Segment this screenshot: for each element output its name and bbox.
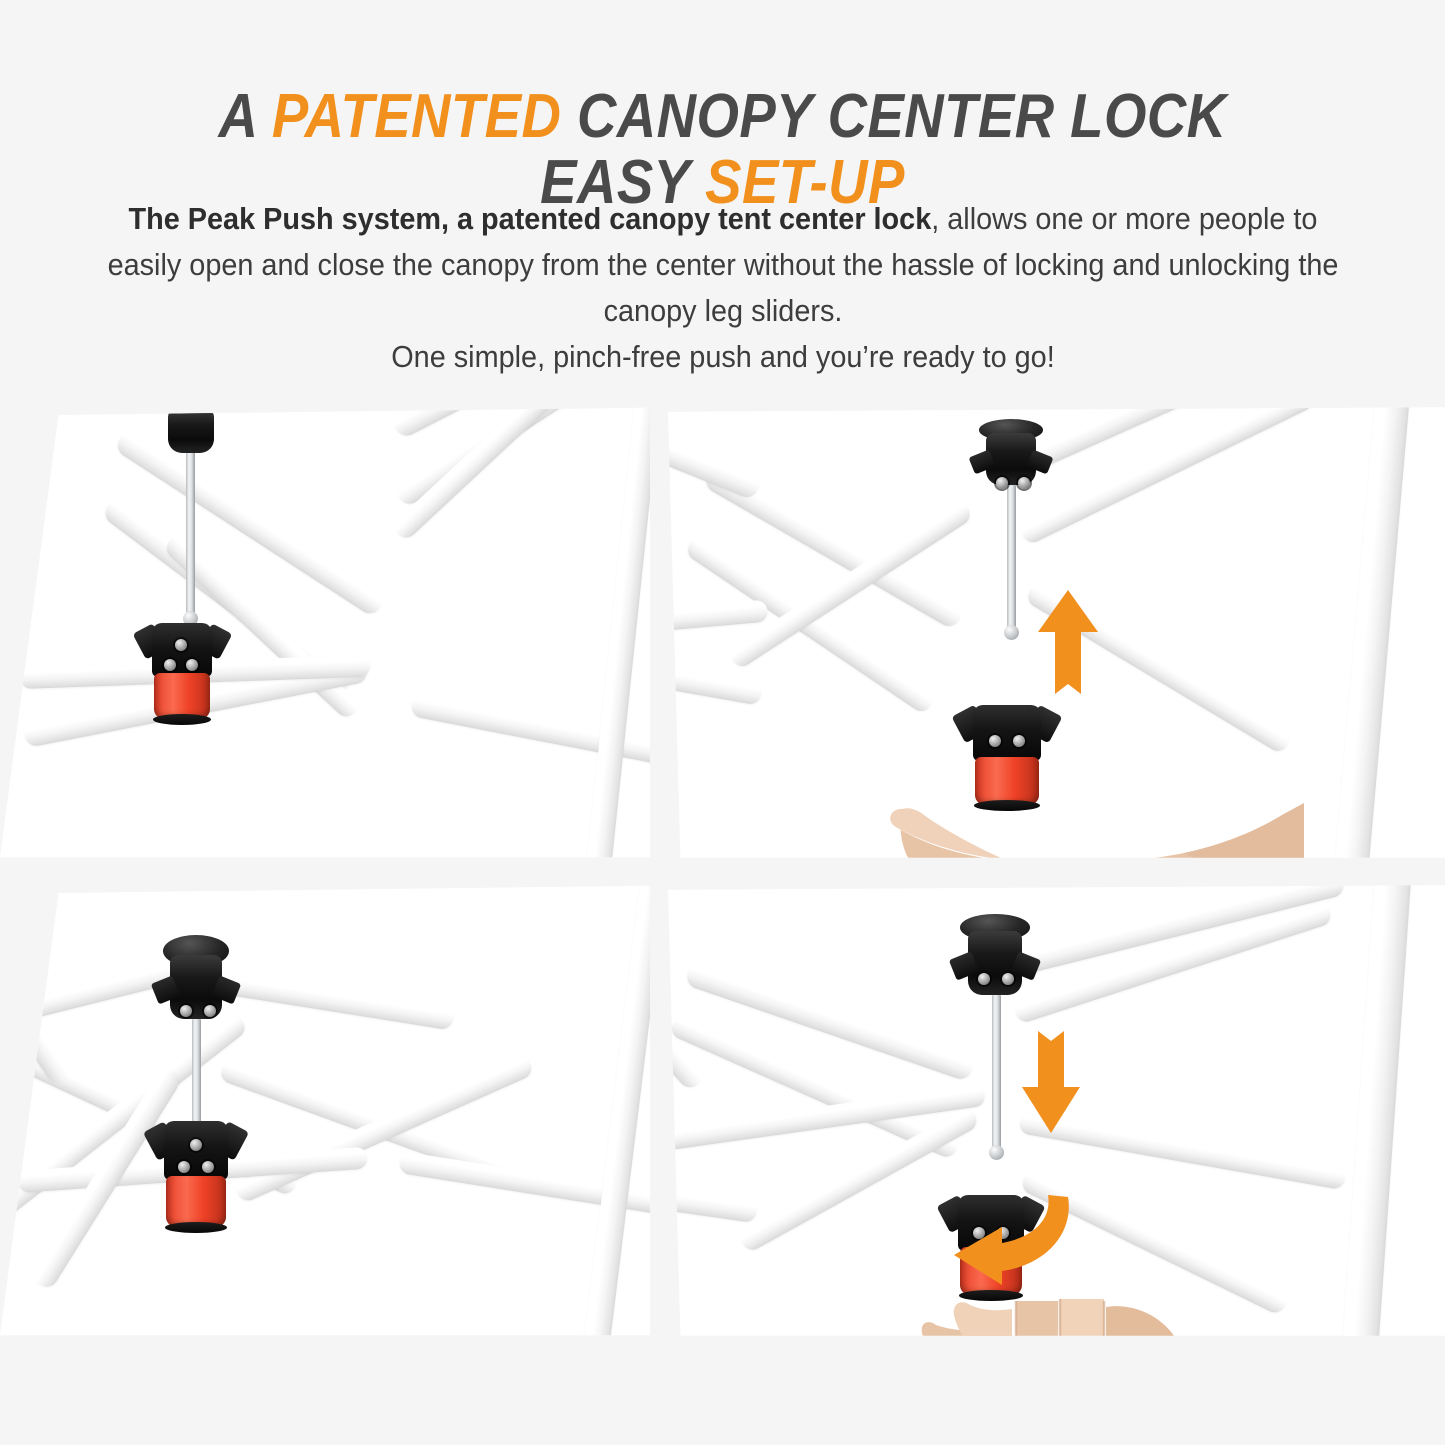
headline-highlight-patented: PATENTED (272, 82, 561, 151)
headline-line-1: A PATENTED CANOPY CENTER LOCK (87, 84, 1359, 150)
panel-pull-down (668, 883, 1445, 1338)
panel-frame-open (0, 405, 650, 860)
image-row-top (0, 405, 1445, 860)
arrow-down-icon (1020, 1021, 1082, 1133)
image-row-bottom (0, 883, 1445, 1338)
description-main: The Peak Push system, a patented canopy … (104, 196, 1341, 334)
panel-frame-locked (0, 883, 650, 1338)
product-image-grid (0, 405, 1445, 1345)
headline-line-1-part-1: A (218, 82, 271, 151)
description-paragraph: The Peak Push system, a patented canopy … (104, 196, 1341, 380)
arrow-twist-icon (936, 1179, 1076, 1287)
panel-push-up (668, 405, 1445, 860)
description-closing: One simple, pinch-free push and you’re r… (104, 334, 1341, 380)
headline-line-1-part-2: CANOPY CENTER LOCK (561, 82, 1226, 151)
arrow-up-icon (1036, 590, 1100, 700)
description-lead: The Peak Push system, a patented canopy … (128, 201, 931, 236)
hand-open-palm (884, 757, 1304, 860)
